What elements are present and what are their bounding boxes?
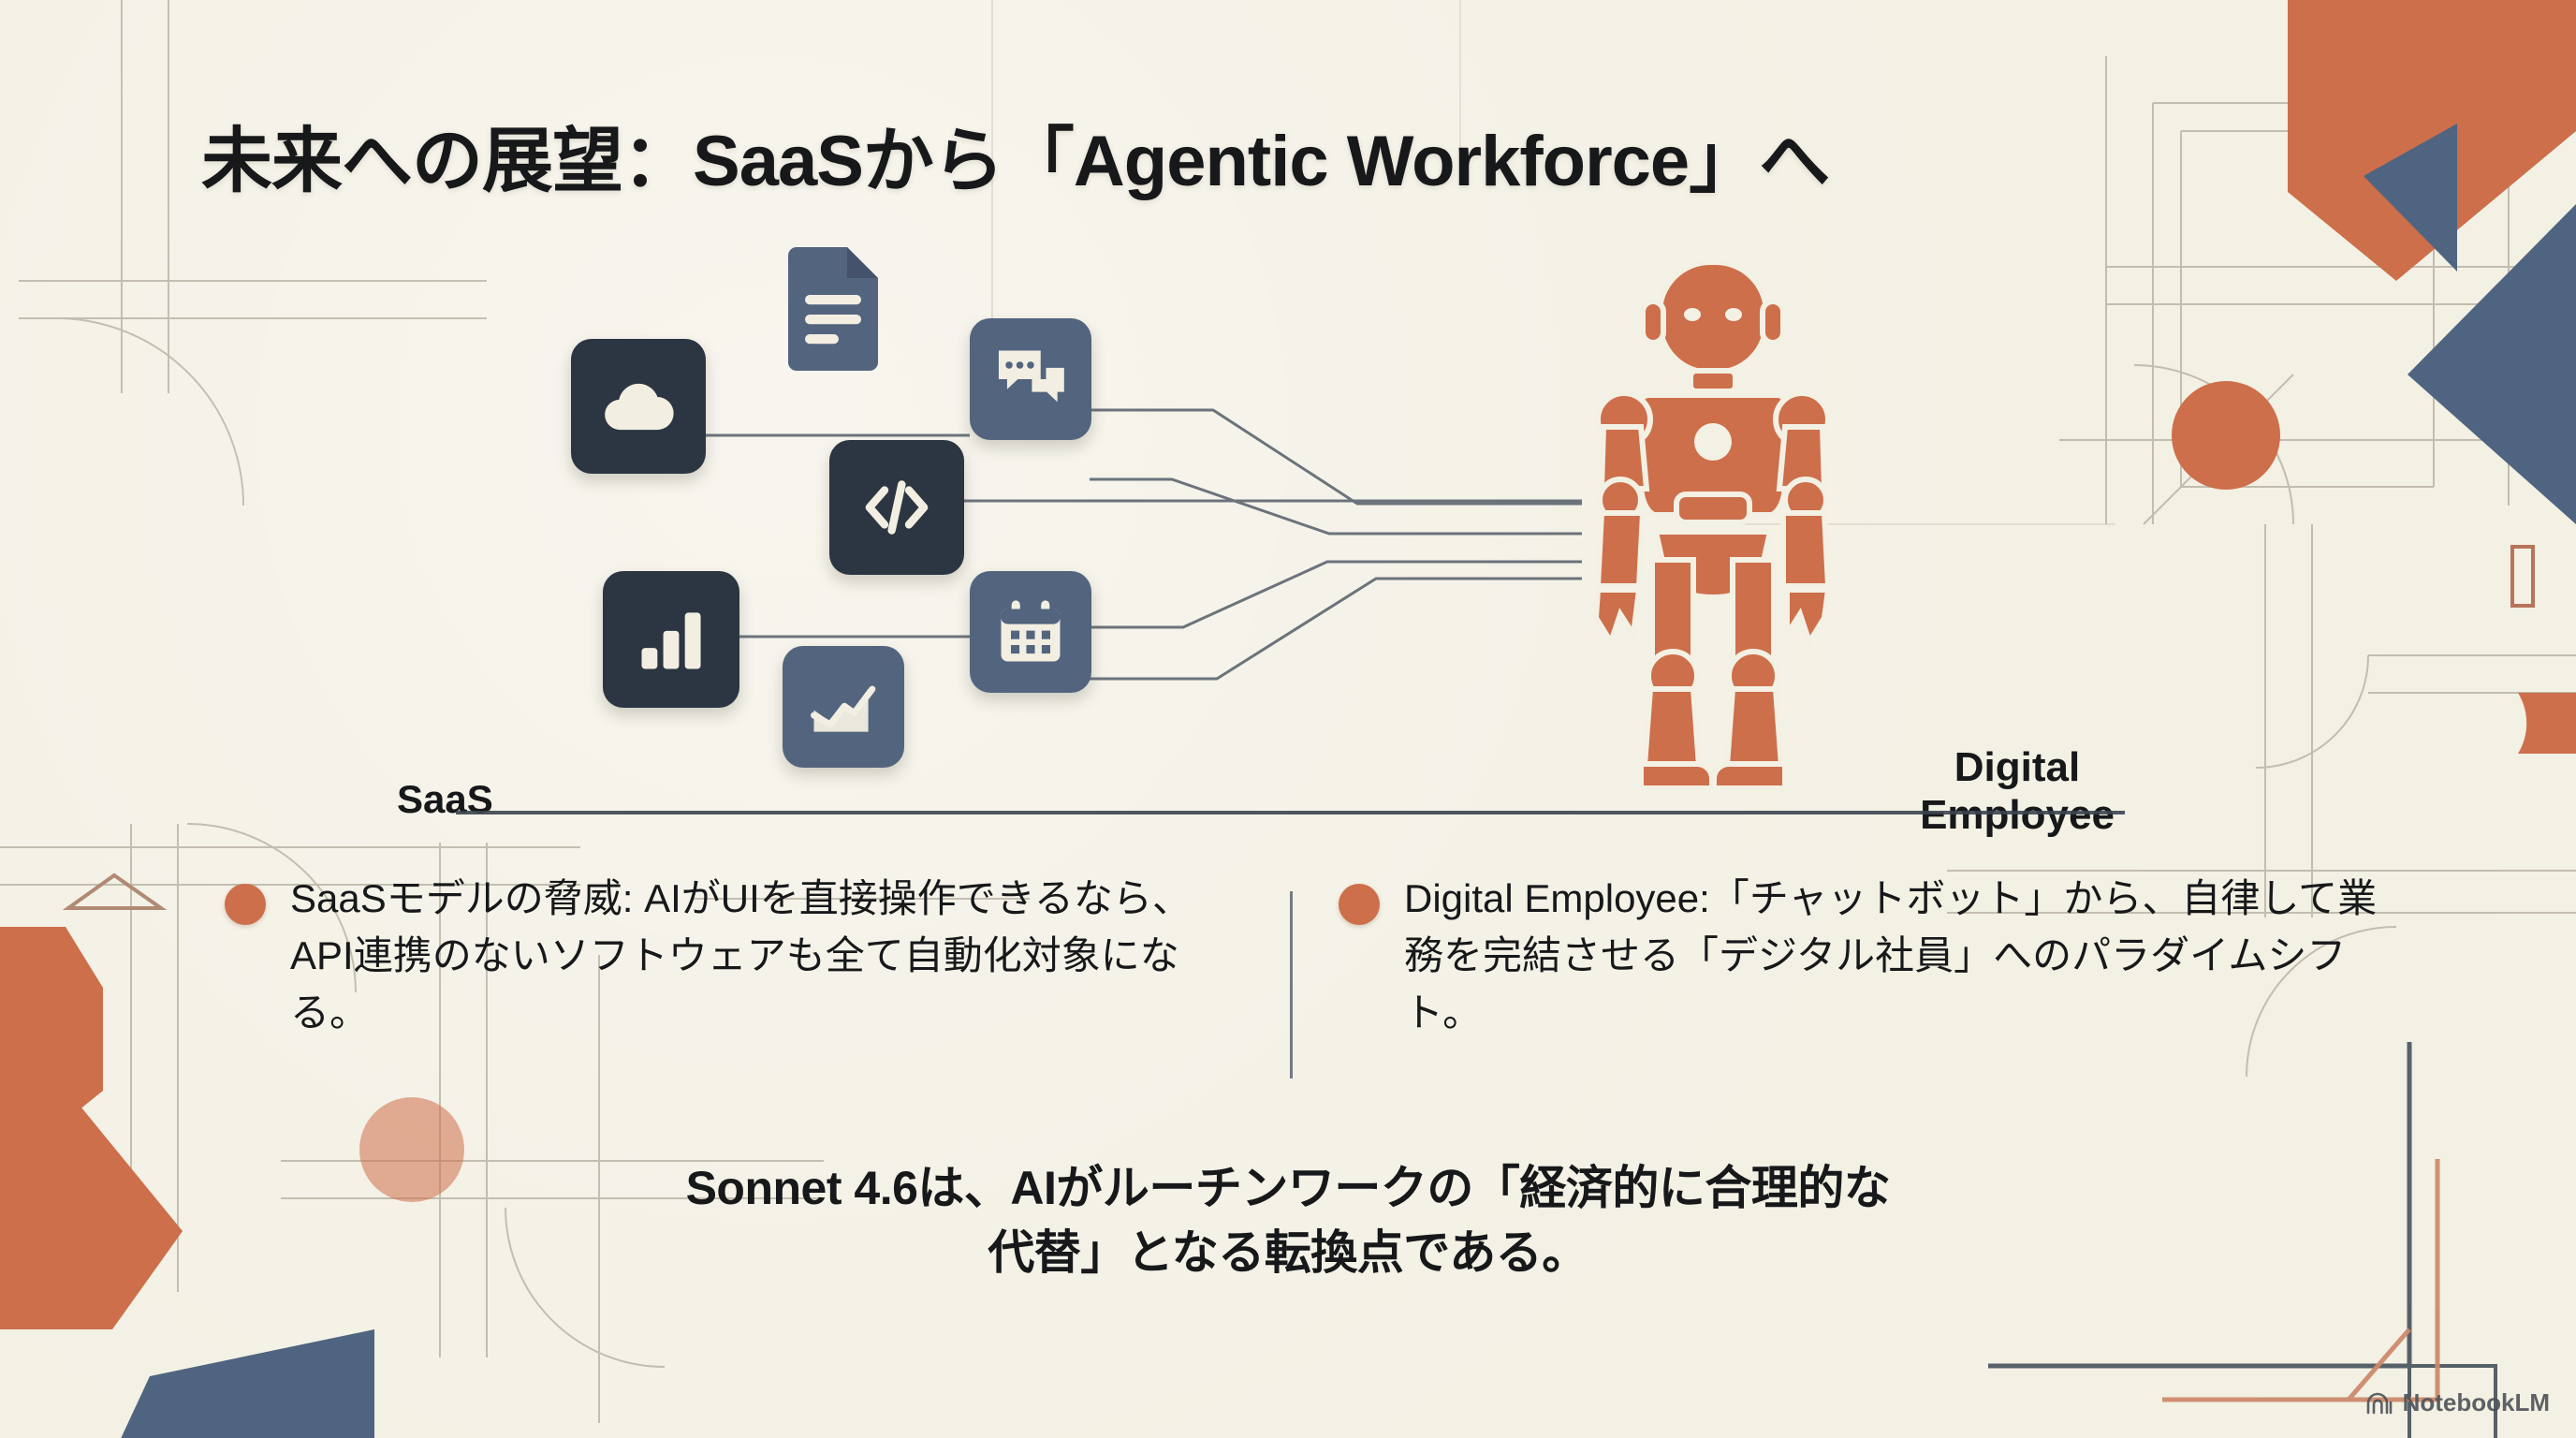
diagram-area: SaaS Digital Employee	[0, 253, 2576, 814]
robot-icon	[1559, 243, 1867, 814]
blue-shape-bottom	[112, 1329, 374, 1438]
triangle-outline-icon	[68, 875, 161, 908]
bar-chart-icon-tile[interactable]	[603, 571, 739, 708]
bullet-text: Digital Employee:「チャットボット」から、自律して業務を完結させ…	[1404, 871, 2387, 1042]
calendar-icon	[991, 593, 1070, 671]
line-chart-icon	[804, 668, 883, 746]
bullet-item-right: Digital Employee:「チャットボット」から、自律して業務を完結させ…	[1339, 871, 2387, 1042]
connector-lines	[0, 253, 2576, 814]
cloud-icon-tile[interactable]	[571, 339, 706, 474]
document-icon-tile[interactable]	[783, 246, 884, 372]
code-icon-tile[interactable]	[829, 440, 964, 575]
bullet-dot	[1339, 884, 1380, 925]
notebooklm-label: NotebookLM	[2403, 1388, 2550, 1417]
line-chart-icon-tile[interactable]	[783, 646, 904, 768]
saas-label: SaaS	[397, 777, 493, 822]
notebooklm-watermark: NotebookLM	[2365, 1388, 2550, 1417]
calendar-icon-tile[interactable]	[970, 571, 1091, 693]
digital-employee-label-line2: Employee	[1920, 792, 2115, 838]
bullet-text: SaaSモデルの脅威: AIがUIを直接操作できるなら、API連携のないソフトウ…	[290, 871, 1236, 1042]
page-title: 未来への展望：SaaSから「Agentic Workforce」へ	[201, 103, 1829, 206]
chat-icon	[990, 339, 1071, 419]
digital-employee-label-line1: Digital	[1954, 744, 2080, 790]
bullet-column-divider	[1290, 891, 1293, 1078]
conclusion-text: Sonnet 4.6は、AIがルーチンワークの「経済的に合理的な 代替」となる転…	[352, 1156, 2224, 1285]
bullet-item-left: SaaSモデルの脅威: AIがUIを直接操作できるなら、API連携のないソフトウ…	[225, 871, 1236, 1042]
digital-employee-label: Digital Employee	[1863, 744, 2172, 839]
orange-polygon-bottom-left-b	[0, 1077, 183, 1329]
orange-polygon-top-right	[2288, 0, 2576, 281]
code-icon	[854, 464, 940, 550]
blue-triangle-top-right	[2364, 124, 2457, 271]
slide-canvas: 未来への展望：SaaSから「Agentic Workforce」へ	[0, 0, 2576, 1438]
bullet-dot	[225, 884, 266, 925]
notebooklm-logo-icon	[2365, 1391, 2393, 1416]
chat-icon-tile[interactable]	[970, 318, 1091, 440]
conclusion-line-1: Sonnet 4.6は、AIがルーチンワークの「経済的に合理的な	[686, 1162, 1891, 1214]
conclusion-line-2: 代替」となる転換点である。	[988, 1226, 1588, 1279]
bar-chart-icon	[630, 598, 712, 681]
document-icon	[783, 246, 884, 372]
cloud-icon	[598, 366, 679, 447]
orange-polygon-bottom-left-a	[0, 927, 103, 1189]
ground-line	[456, 811, 2125, 814]
